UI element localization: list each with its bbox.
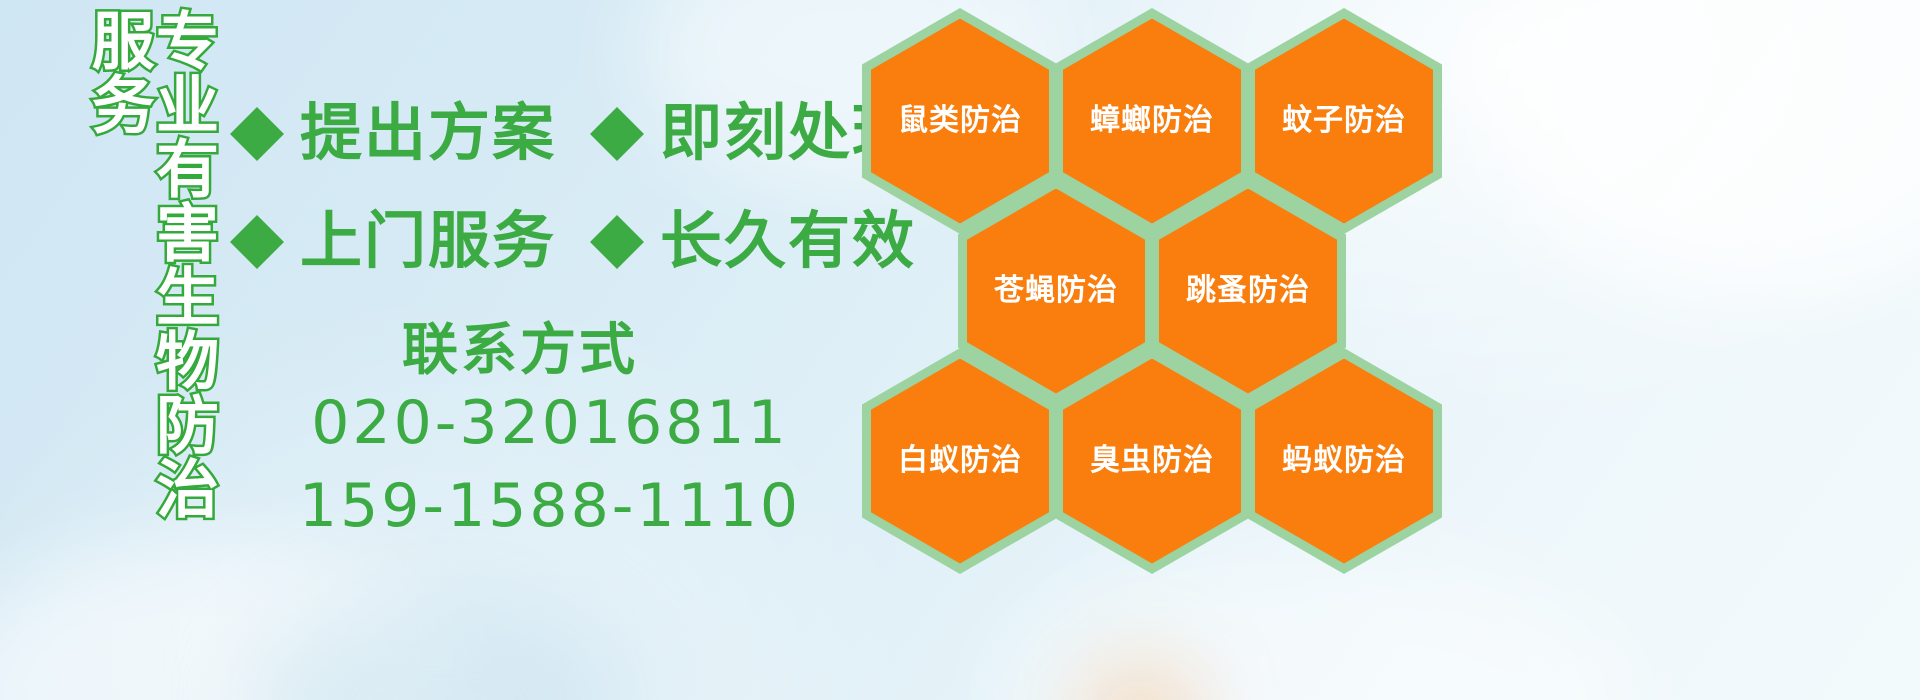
- hex-inner: 臭虫防治: [1063, 359, 1241, 564]
- background-blob: [0, 540, 460, 700]
- feature-row-2: 上门服务 长久有效: [230, 188, 870, 296]
- feature-list: 提出方案 即刻处理 上门服务 长久有效: [230, 80, 870, 296]
- service-honeycomb: 鼠类防治 蟑螂防治 蚊子防治 苍蝇防治 跳蚤防治 白蚁防治: [856, 0, 1456, 700]
- hex-label: 蚂蚁防治: [1282, 446, 1406, 476]
- diamond-bullet-icon: [590, 80, 644, 134]
- pest-control-banner: 专业有害生物防治服务 提出方案 即刻处理 上门服务 长久有效 联系方式 0: [0, 0, 1920, 700]
- diamond-bullet-icon: [590, 188, 644, 242]
- feature-label: 上门服务: [300, 211, 556, 273]
- hex-label: 白蚁防治: [898, 446, 1022, 476]
- hex-inner: 蟑螂防治: [1063, 19, 1241, 224]
- background-blob: [1480, 0, 1920, 300]
- phone-mobile[interactable]: 159-1588-1110: [240, 465, 860, 548]
- hex-label: 鼠类防治: [898, 106, 1022, 136]
- hex-inner: 蚊子防治: [1255, 19, 1433, 224]
- hex-inner: 苍蝇防治: [967, 189, 1145, 394]
- diamond-bullet-icon: [230, 80, 284, 134]
- contact-block: 联系方式 020-32016811 159-1588-1110: [240, 318, 860, 548]
- hex-inner: 白蚁防治: [871, 359, 1049, 564]
- feature-item-propose-plan: 提出方案: [230, 103, 556, 165]
- feature-row-1: 提出方案 即刻处理: [230, 80, 870, 188]
- hex-label: 蟑螂防治: [1090, 106, 1214, 136]
- hex-label: 苍蝇防治: [994, 276, 1118, 306]
- feature-item-door-to-door-service: 上门服务: [230, 211, 556, 273]
- contact-title: 联系方式: [180, 318, 860, 382]
- phone-landline[interactable]: 020-32016811: [240, 382, 860, 465]
- hex-label: 跳蚤防治: [1186, 276, 1310, 306]
- feature-label: 提出方案: [300, 103, 556, 165]
- hex-inner: 跳蚤防治: [1159, 189, 1337, 394]
- diamond-bullet-icon: [230, 188, 284, 242]
- hex-inner: 鼠类防治: [871, 19, 1049, 224]
- vertical-headline: 专业有害生物防治服务: [108, 8, 214, 568]
- hex-inner: 蚂蚁防治: [1255, 359, 1433, 564]
- hex-label: 臭虫防治: [1090, 446, 1214, 476]
- hex-label: 蚊子防治: [1282, 106, 1406, 136]
- background-blob: [250, 590, 630, 700]
